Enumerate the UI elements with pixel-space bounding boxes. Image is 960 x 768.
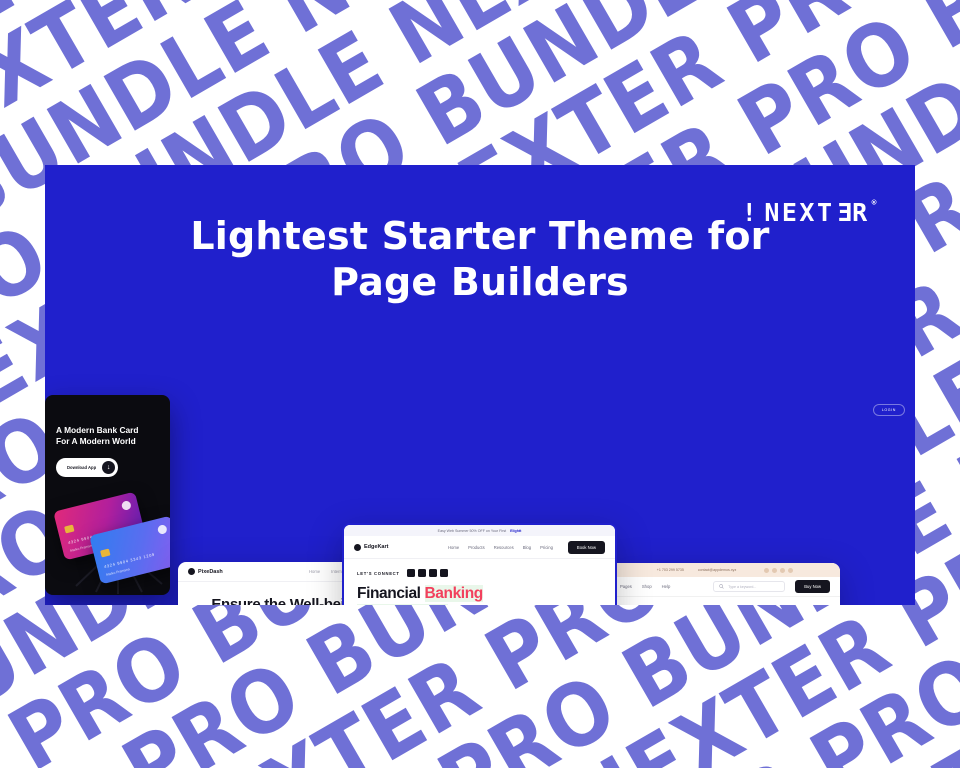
edgekart-nav-products[interactable]: Products xyxy=(468,545,485,550)
search-input[interactable]: Type a keyword... xyxy=(713,581,785,592)
pixedash-logo: PixeDash xyxy=(188,568,223,575)
dark-headline-line-2: For A Modern World xyxy=(56,436,136,446)
dark-headline-line-1: A Modern Bank Card xyxy=(56,425,139,435)
pixedash-brand-name: PixeDash xyxy=(198,569,223,575)
edgekart-nav-links: Home Products Resources Blog Pricing Boo… xyxy=(448,541,605,554)
headline-highlight-management: Management xyxy=(357,604,448,605)
mockup-dark-bankcard[interactable]: LOGIN A Modern Bank Card For A Modern Wo… xyxy=(45,395,170,595)
lets-connect-row: LET'S CONNECT xyxy=(357,569,602,577)
search-icon xyxy=(719,584,724,589)
dark-cards-zone: 4324 9904 3343 1209 Marko Pramana 4324 9… xyxy=(56,493,159,588)
right-topbar: +1 703 299 5735 contact@appdemos.xyz xyxy=(610,563,840,577)
hero-title-line-2: Page Builders xyxy=(45,259,915,305)
buy-now-button[interactable]: Buy Now xyxy=(795,580,830,593)
right-nav-pages[interactable]: Pages xyxy=(620,584,632,589)
linkedin-icon[interactable] xyxy=(440,569,448,577)
headline-part-1: Financial xyxy=(357,585,425,602)
download-arrow-icon: ↓ xyxy=(102,461,115,474)
mockup-center-edgekart[interactable]: Easy Web Summer 50% OFF on Your First El… xyxy=(342,523,617,605)
announcement-text: Easy Web Summer 50% OFF on Your First xyxy=(438,529,506,533)
nav-item-home[interactable]: Home xyxy=(309,569,320,574)
announcement-bar[interactable]: Easy Web Summer 50% OFF on Your First El… xyxy=(344,525,615,536)
edgekart-brand-name: EdgeKart xyxy=(364,544,388,550)
edgekart-nav-resources[interactable]: Resources xyxy=(494,545,514,550)
pink-card-logo-icon xyxy=(121,500,132,511)
pink-card-chip-icon xyxy=(64,524,74,532)
edgekart-book-now-button[interactable]: Book Now xyxy=(568,541,605,554)
hero-banner: Lightest Starter Theme for Page Builders… xyxy=(45,165,915,605)
download-app-label: Download App xyxy=(67,465,96,470)
right-nav-help[interactable]: Help xyxy=(662,584,671,589)
logo-reversed-e: E xyxy=(835,198,853,227)
twitter-icon[interactable] xyxy=(418,569,426,577)
search-placeholder: Type a keyword... xyxy=(728,585,756,589)
dark-headline: A Modern Bank Card For A Modern World xyxy=(56,425,159,448)
headline-highlight-banking: Banking xyxy=(425,585,483,602)
mockup-stage: PixeDash Home Internal Pages Blog Contac… xyxy=(45,395,915,605)
edgekart-nav-blog[interactable]: Blog xyxy=(523,545,531,550)
right-navbar: Pages Shop Help Type a keyword... Buy No… xyxy=(610,577,840,597)
edgekart-hero-body: LET'S CONNECT Financial BankingManagemen… xyxy=(344,558,615,605)
nexter-logo: ! NEXT E R ® xyxy=(742,198,879,227)
twitter-icon[interactable] xyxy=(772,568,777,573)
edgekart-nav-pricing[interactable]: Pricing xyxy=(540,545,553,550)
mockup-right-bundle[interactable]: +1 703 299 5735 contact@appdemos.xyz Pag… xyxy=(610,563,840,605)
edgekart-social-icons[interactable] xyxy=(407,569,448,577)
right-hero-body: World and Ideas for Get Bundle xyxy=(610,597,840,605)
blue-card-name: Marko Pramana xyxy=(106,567,130,577)
logo-exclamation: ! xyxy=(742,198,760,227)
logo-text-part1: NEXT xyxy=(764,198,834,227)
topbar-email[interactable]: contact@appdemos.xyz xyxy=(698,568,736,572)
right-nav-shop[interactable]: Shop xyxy=(642,584,652,589)
hero-title-line-1: Lightest Starter Theme for xyxy=(190,214,769,258)
edgekart-nav-home[interactable]: Home xyxy=(448,545,459,550)
headline-part-2: Solution xyxy=(448,604,511,605)
topbar-phone[interactable]: +1 703 299 5735 xyxy=(657,568,684,572)
edgekart-navbar: EdgeKart Home Products Resources Blog Pr… xyxy=(344,536,615,558)
edgekart-headline: Financial BankingManagement Solution xyxy=(357,585,602,605)
logo-trademark: ® xyxy=(872,198,879,207)
facebook-icon[interactable] xyxy=(764,568,769,573)
blue-card-number: 4324 9904 3343 1209 xyxy=(103,551,155,568)
facebook-icon[interactable] xyxy=(407,569,415,577)
announcement-highlight: Elightt xyxy=(510,529,521,533)
edgekart-logo: EdgeKart xyxy=(354,544,388,551)
blue-card-logo-icon xyxy=(157,524,168,535)
lets-connect-label: LET'S CONNECT xyxy=(357,571,400,576)
edgekart-logo-icon xyxy=(354,544,361,551)
topbar-social-icons[interactable] xyxy=(764,568,793,573)
pixedash-logo-icon xyxy=(188,568,195,575)
blue-card-chip-icon xyxy=(100,548,110,556)
instagram-icon[interactable] xyxy=(780,568,785,573)
linkedin-icon[interactable] xyxy=(788,568,793,573)
logo-text-part2: R xyxy=(852,198,870,227)
download-app-button[interactable]: Download App ↓ xyxy=(56,458,118,477)
instagram-icon[interactable] xyxy=(429,569,437,577)
